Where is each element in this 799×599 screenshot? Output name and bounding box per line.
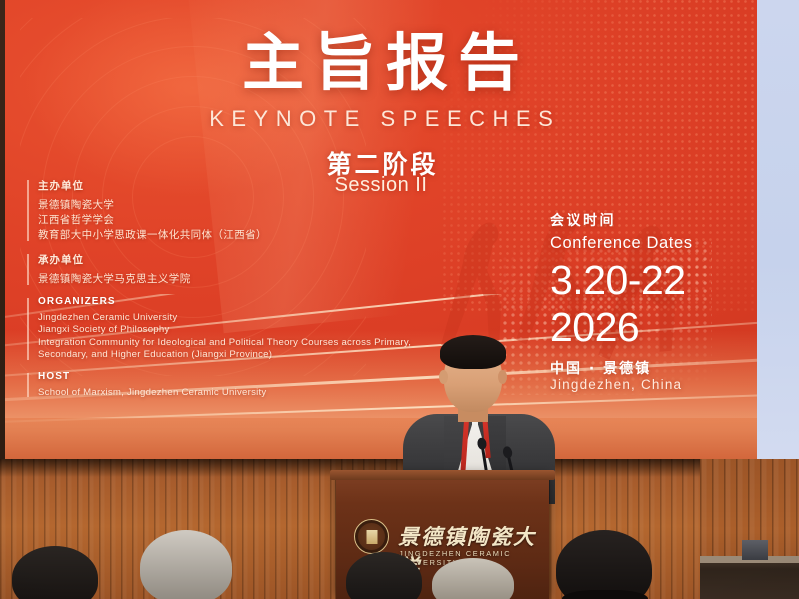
organizers-line-en: Integration Community for Ideological an… (38, 337, 442, 349)
speaker-ear-left (439, 370, 448, 384)
organizers-line-zh: 江西省哲学学会 (38, 213, 442, 228)
organizers-line-en: Secondary, and Higher Education (Jiangxi… (38, 349, 442, 361)
slide-title-chinese: 主旨报告 (5, 32, 757, 94)
projection-screen: 主旨报告 KEYNOTE SPEECHES 第二阶段 Session II 主办… (5, 0, 757, 459)
side-desk (700, 556, 799, 599)
wall-right (757, 0, 799, 470)
screen-ground-band (5, 418, 757, 459)
organizers-english: ORGANIZERS Jingdezhen Ceramic University… (27, 296, 442, 362)
organizers-line-en: Jiangxi Society of Philosophy (38, 324, 442, 336)
audience-head (556, 530, 652, 599)
organizers-chinese: 主办单位 景德镇陶瓷大学 江西省哲学学会 教育部大中小学思政课一体化共同体（江西… (27, 178, 442, 243)
desk-object (742, 540, 768, 560)
host-line-zh: 景德镇陶瓷大学马克思主义学院 (38, 272, 442, 287)
speaker-hair (440, 335, 506, 369)
podium-top-edge (330, 470, 555, 480)
organizers-line-en: Jingdezhen Ceramic University (38, 312, 442, 324)
university-seal-icon (354, 519, 389, 554)
conference-dates-block: 会议时间 Conference Dates 3.20-22 2026 (550, 210, 755, 347)
organizers-heading-en: ORGANIZERS (38, 296, 442, 307)
host-heading-zh: 承办单位 (38, 252, 442, 267)
host-chinese: 承办单位 景德镇陶瓷大学马克思主义学院 (27, 252, 442, 287)
organizers-heading-zh: 主办单位 (38, 178, 442, 193)
credits-block: 主办单位 景德镇陶瓷大学 江西省哲学学会 教育部大中小学思政课一体化共同体（江西… (27, 178, 442, 408)
organizers-line-zh: 教育部大中小学思政课一体化共同体（江西省） (38, 228, 442, 243)
dates-label-zh: 会议时间 (550, 210, 755, 230)
location-en: Jingdezhen, China (550, 377, 682, 392)
dates-label-en: Conference Dates (550, 234, 755, 253)
conference-hall-scene: 主旨报告 KEYNOTE SPEECHES 第二阶段 Session II 主办… (0, 0, 799, 599)
speaker-ear-right (498, 370, 507, 384)
host-line-en: School of Marxism, Jingdezhen Ceramic Un… (38, 387, 442, 399)
host-english: HOST School of Marxism, Jingdezhen Ceram… (27, 371, 442, 399)
host-heading-en: HOST (38, 371, 442, 382)
dates-range: 3.20-22 (550, 260, 755, 300)
slide-title-english: KEYNOTE SPEECHES (5, 106, 757, 132)
audience-head (140, 530, 232, 599)
dates-year: 2026 (550, 307, 755, 347)
organizers-line-zh: 景德镇陶瓷大学 (38, 198, 442, 213)
